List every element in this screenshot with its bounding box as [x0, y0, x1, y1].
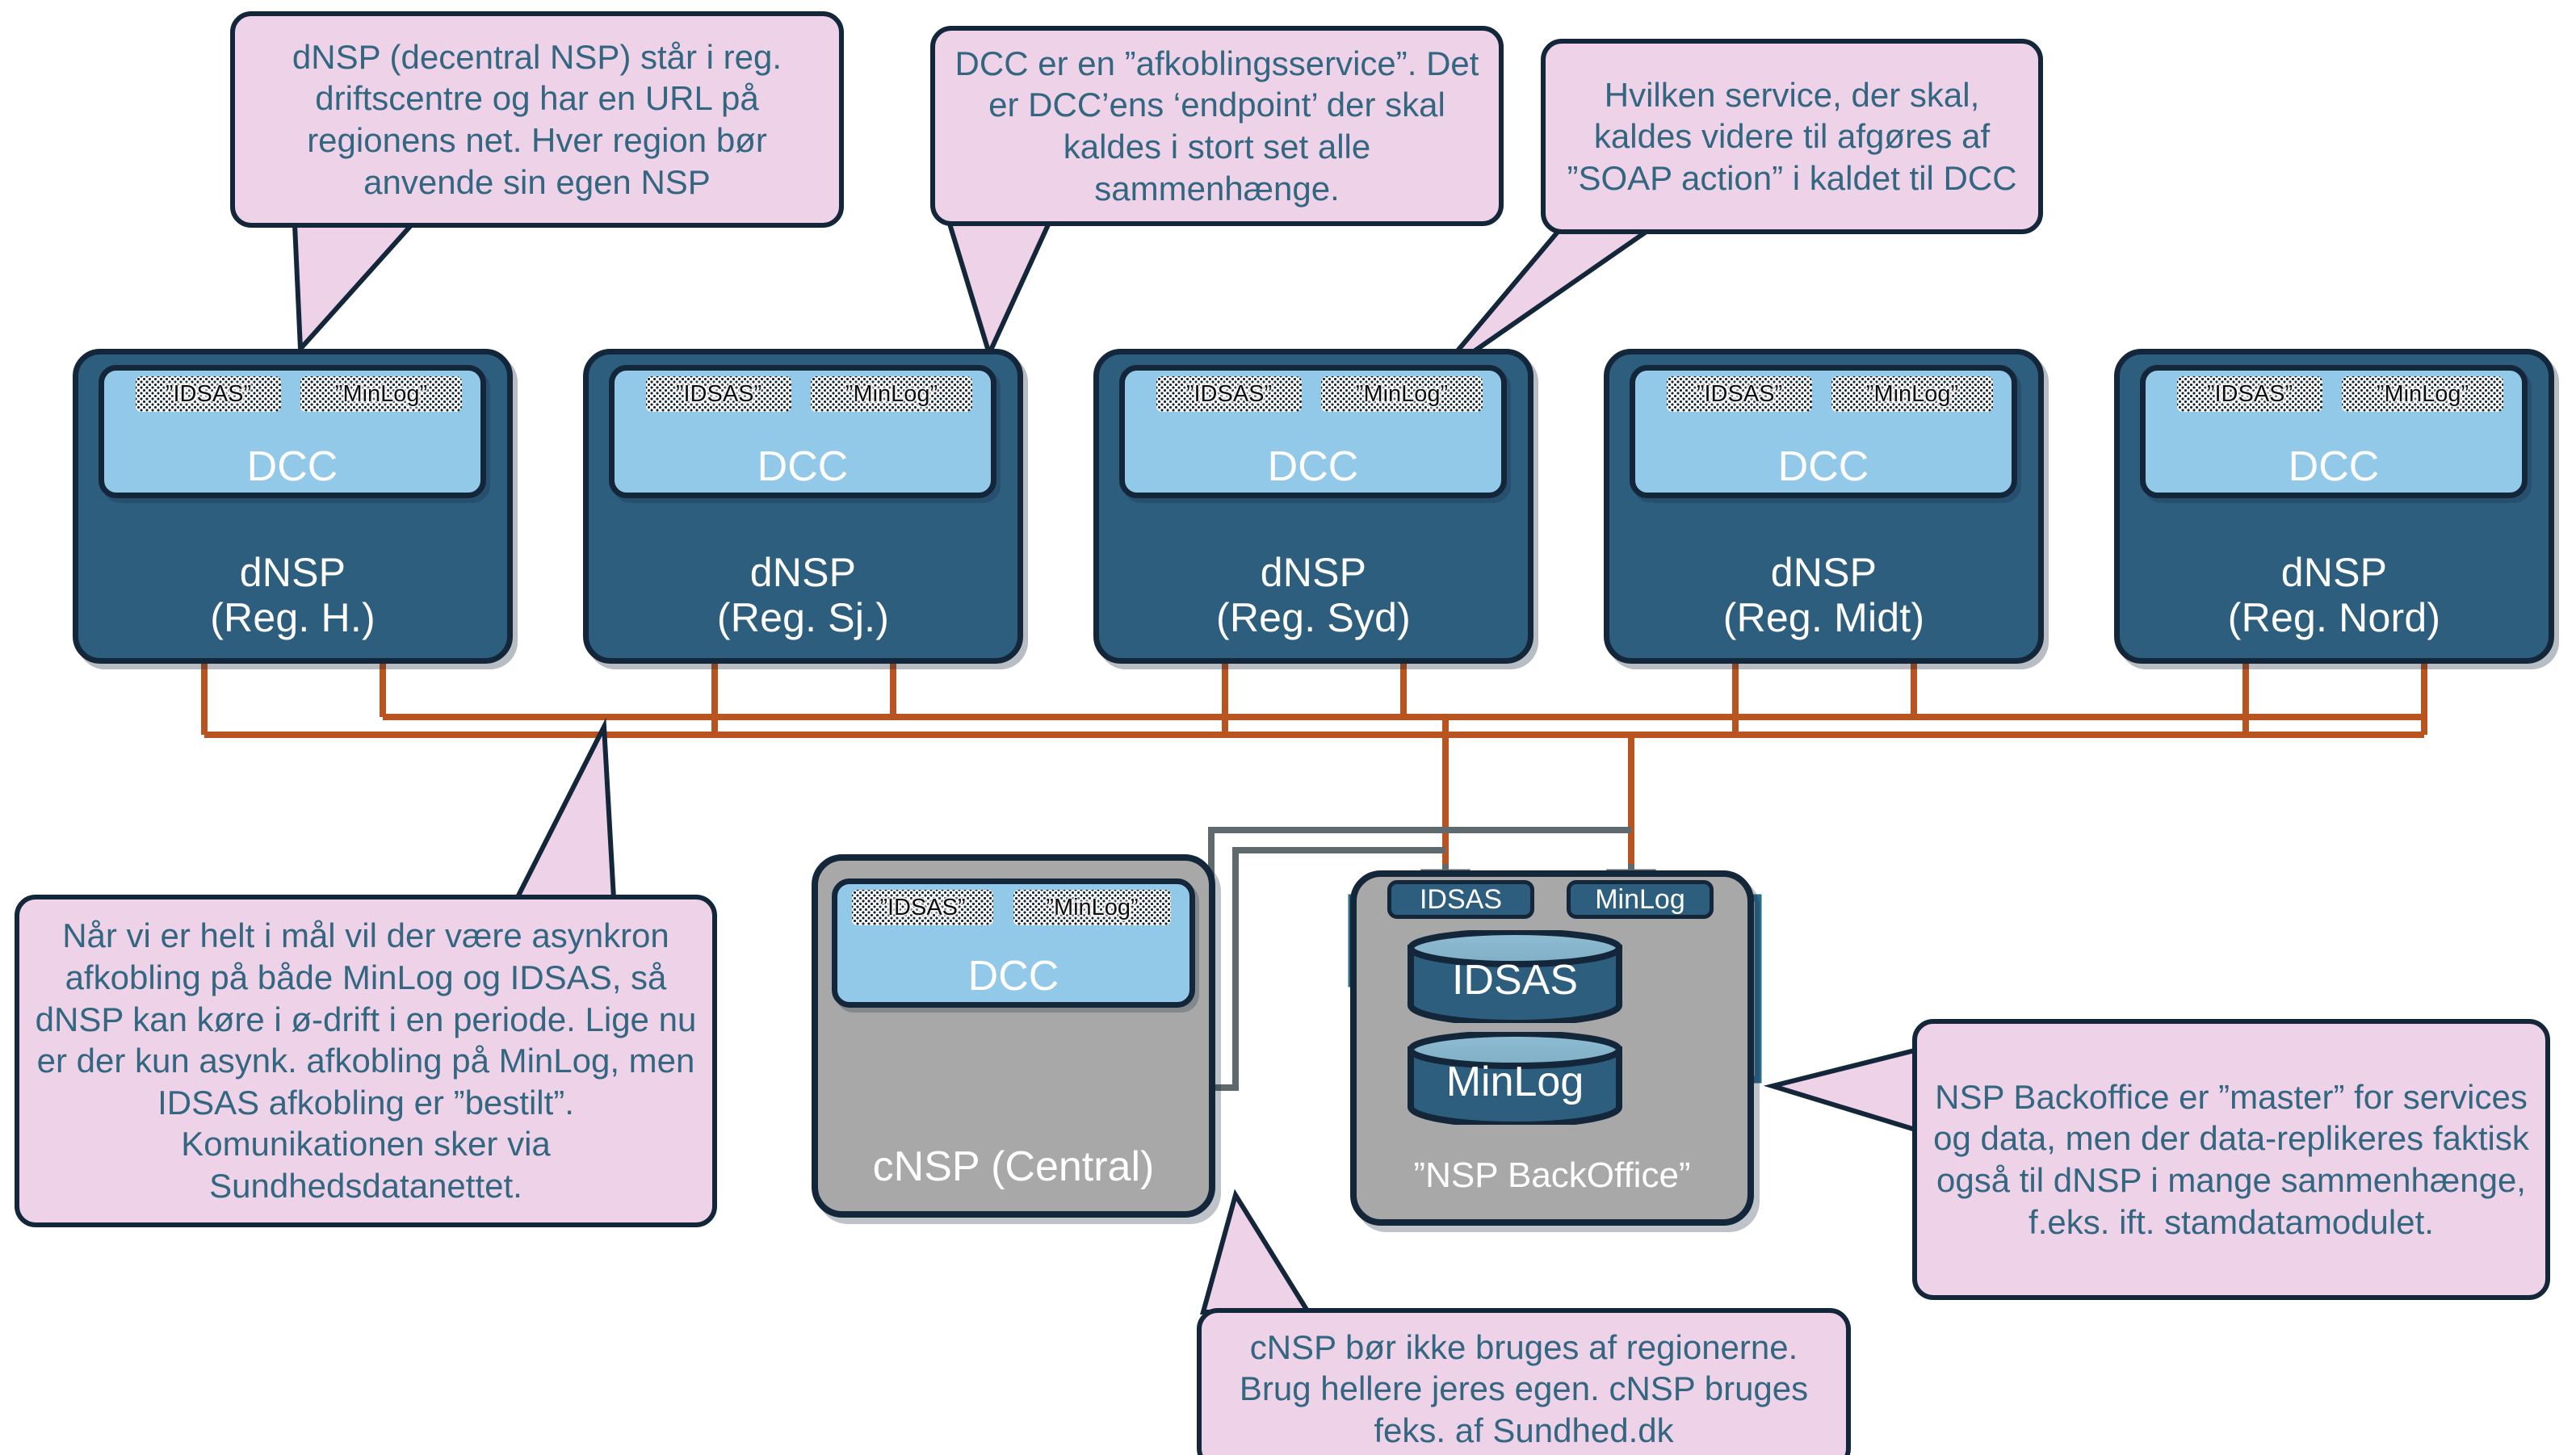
callout-backoffice-note[interactable]: NSP Backoffice er ”master” for services … — [1912, 1019, 2550, 1300]
service-pill-minlog-reg-midt[interactable]: ”MinLog” — [1831, 376, 1993, 412]
dcc-label: DCC — [1635, 446, 2012, 488]
backoffice-label: ”NSP BackOffice” — [1357, 1156, 1747, 1195]
callout-text: DCC er en ”afkoblingsservice”. Det er DC… — [950, 43, 1484, 210]
service-pill-minlog-reg-nord[interactable]: ”MinLog” — [2342, 376, 2503, 412]
service-pill-label: ”MinLog” — [335, 381, 427, 408]
dnsp-card-label: dNSP (Reg. Nord) — [2120, 550, 2549, 640]
service-pill-minlog-cnsp[interactable]: ”MinLog” — [1013, 890, 1171, 925]
callout-dnsp-note[interactable]: dNSP (decentral NSP) står i reg. driftsc… — [230, 11, 844, 228]
dcc-label: DCC — [1125, 446, 1501, 488]
service-pill-label: ”MinLog” — [1356, 381, 1448, 408]
database-cylinder-minlog[interactable]: MinLog — [1407, 1032, 1623, 1125]
database-cylinder-idsas[interactable]: IDSAS — [1407, 930, 1623, 1023]
service-pill-label: ”MinLog” — [845, 381, 938, 408]
cylinder-shape — [1407, 1032, 1623, 1125]
dcc-label: DCC — [104, 446, 480, 488]
callout-cnsp-note[interactable]: cNSP bør ikke bruges af regionerne. Brug… — [1197, 1308, 1851, 1455]
dnsp-card-label: dNSP (Reg. Sj.) — [589, 550, 1017, 640]
diagram-canvas: dNSP (Reg. H.) DCC ”IDSAS” ”MinLog” dNSP… — [0, 0, 2576, 1455]
callout-text: dNSP (decentral NSP) står i reg. driftsc… — [250, 36, 824, 203]
dcc-label: DCC — [837, 955, 1189, 997]
callout-text: cNSP bør ikke bruges af regionerne. Brug… — [1216, 1327, 1831, 1452]
service-pill-minlog-reg-syd[interactable]: ”MinLog” — [1321, 376, 1483, 412]
cylinder-shape — [1407, 930, 1623, 1023]
dnsp-card-label: dNSP (Reg. Midt) — [1609, 550, 2038, 640]
service-pill-label: ”IDSAS” — [166, 381, 251, 408]
dnsp-card-label: dNSP (Reg. Syd) — [1099, 550, 1528, 640]
backoffice-chip-label: MinLog — [1595, 884, 1685, 916]
service-pill-label: ”IDSAS” — [1186, 381, 1272, 408]
dnsp-card-label: dNSP (Reg. H.) — [78, 550, 507, 640]
service-pill-label: ”IDSAS” — [879, 895, 965, 921]
service-pill-label: ”MinLog” — [1046, 895, 1138, 921]
service-pill-label: ”MinLog” — [1866, 381, 1958, 408]
service-pill-label: ”MinLog” — [2377, 381, 2469, 408]
service-pill-label: ”IDSAS” — [1697, 381, 1782, 408]
cnsp-label: cNSP (Central) — [818, 1144, 1209, 1190]
service-pill-idsas-reg-sj[interactable]: ”IDSAS” — [646, 376, 791, 412]
callout-async-note[interactable]: Når vi er helt i mål vil der være asynkr… — [15, 895, 717, 1227]
service-pill-idsas-reg-syd[interactable]: ”IDSAS” — [1156, 376, 1302, 412]
service-pill-label: ”IDSAS” — [2207, 381, 2293, 408]
service-pill-idsas-cnsp[interactable]: ”IDSAS” — [852, 890, 993, 925]
backoffice-chip-minlog[interactable]: MinLog — [1567, 880, 1714, 919]
service-pill-idsas-reg-midt[interactable]: ”IDSAS” — [1667, 376, 1812, 412]
backoffice-chip-idsas[interactable]: IDSAS — [1387, 880, 1534, 919]
service-pill-idsas-reg-nord[interactable]: ”IDSAS” — [2177, 376, 2322, 412]
backoffice-chip-label: IDSAS — [1420, 884, 1502, 916]
service-pill-idsas-reg-h[interactable]: ”IDSAS” — [136, 376, 281, 412]
service-pill-minlog-reg-sj[interactable]: ”MinLog” — [811, 376, 972, 412]
service-pill-minlog-reg-h[interactable]: ”MinLog” — [300, 376, 462, 412]
callout-text: Når vi er helt i mål vil der være asynkr… — [34, 915, 698, 1207]
callout-soap-note[interactable]: Hvilken service, der skal, kaldes videre… — [1541, 39, 2043, 234]
dcc-label: DCC — [2146, 446, 2522, 488]
callout-text: NSP Backoffice er ”master” for services … — [1932, 1076, 2531, 1243]
dcc-label: DCC — [615, 446, 991, 488]
service-pill-label: ”IDSAS” — [676, 381, 761, 408]
callout-dcc-note[interactable]: DCC er en ”afkoblingsservice”. Det er DC… — [930, 26, 1504, 226]
callout-text: Hvilken service, der skal, kaldes videre… — [1560, 74, 2024, 199]
